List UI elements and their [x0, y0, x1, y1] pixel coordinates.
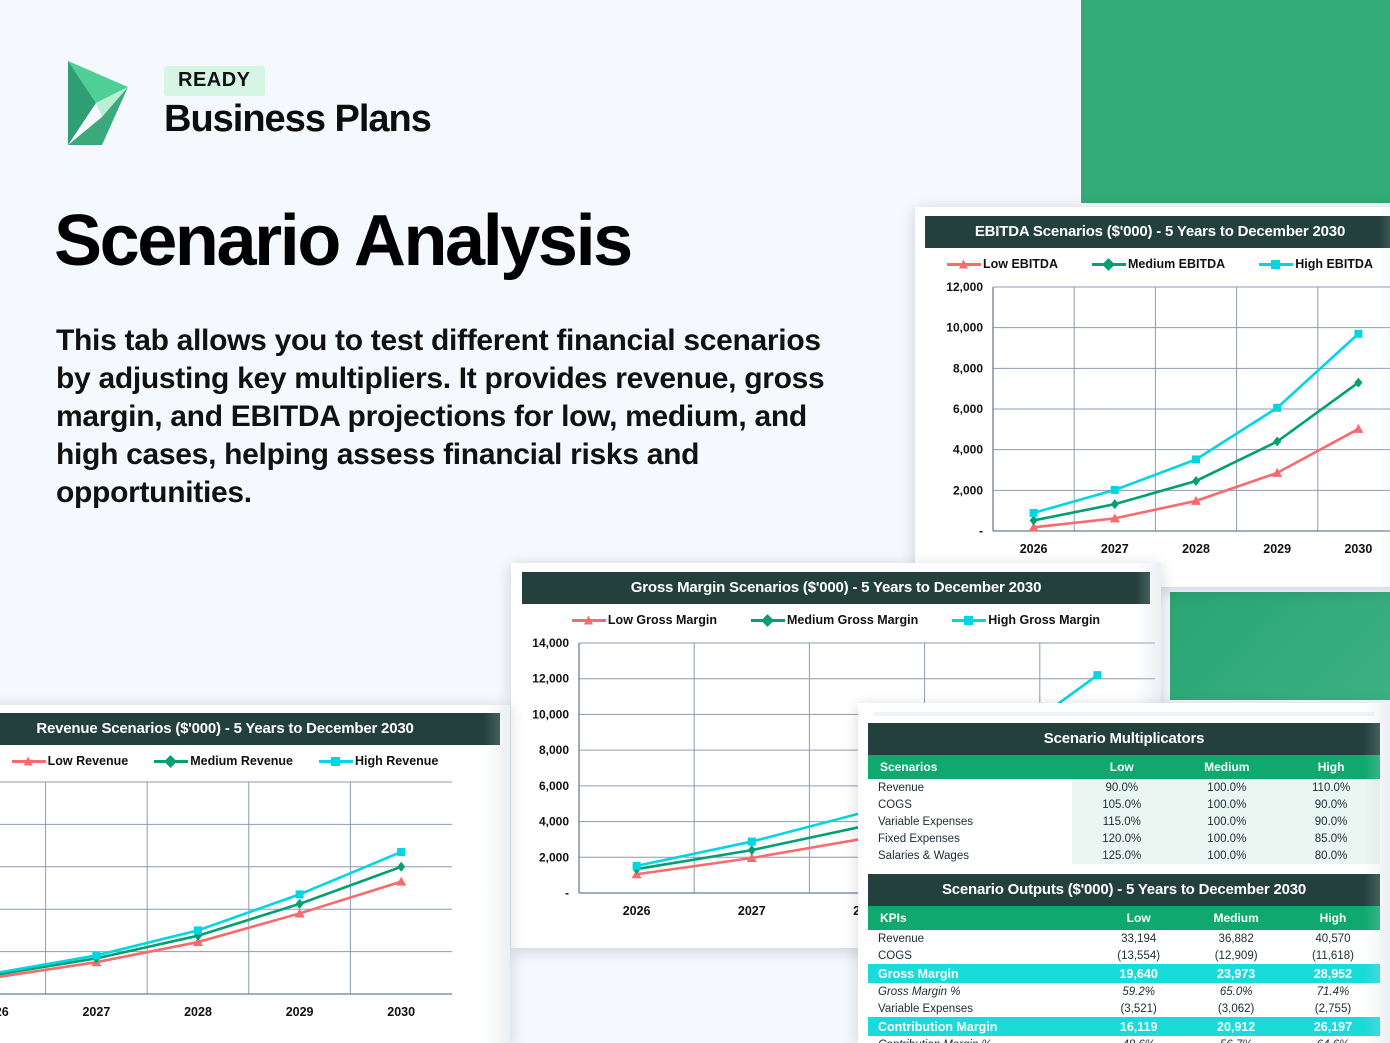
table-row: Revenue90.0%100.0%110.0% — [868, 779, 1380, 796]
cell-label: Variable Expenses — [868, 813, 1072, 830]
cell-medium: 100.0% — [1171, 813, 1282, 830]
svg-text:2026: 2026 — [0, 1005, 9, 1019]
col-medium: Medium — [1186, 906, 1286, 930]
svg-text:-: - — [565, 886, 569, 900]
play-triangle-logo-icon — [56, 57, 142, 149]
brand-logo: READY Business Plans — [56, 57, 431, 149]
cell-label: Contribution Margin % — [868, 1036, 1091, 1043]
cell-high: 90.0% — [1282, 813, 1380, 830]
svg-text:4,000: 4,000 — [539, 815, 569, 829]
svg-text:6,000: 6,000 — [539, 779, 569, 793]
scenario-tables-card: Scenario Multiplicators Scenarios Low Me… — [858, 703, 1390, 1043]
legend-swatch-medium — [154, 760, 188, 763]
legend-label-medium: Medium Revenue — [190, 754, 293, 768]
cell-medium: (3,062) — [1186, 1000, 1286, 1017]
table-header-row: Scenarios Low Medium High — [868, 755, 1380, 779]
decorative-green-block-middle — [1170, 592, 1390, 700]
card-top-divider — [874, 712, 1374, 716]
svg-text:14,000: 14,000 — [532, 636, 569, 650]
legend-label-low: Low Revenue — [48, 754, 129, 768]
cell-low: 125.0% — [1072, 847, 1171, 864]
multiplicators-table: Scenarios Low Medium High Revenue90.0%10… — [868, 755, 1380, 864]
cell-medium: 100.0% — [1171, 830, 1282, 847]
decorative-green-block-top — [1081, 0, 1390, 203]
legend-item-high: High EBITDA — [1259, 257, 1373, 271]
svg-text:10,000: 10,000 — [532, 707, 569, 721]
legend-swatch-medium — [751, 619, 785, 622]
legend-swatch-high — [952, 619, 986, 622]
cell-medium: 100.0% — [1171, 779, 1282, 796]
svg-text:6,000: 6,000 — [953, 402, 983, 416]
col-low: Low — [1072, 755, 1171, 779]
legend-item-low: Low Gross Margin — [572, 613, 717, 627]
cell-low: 90.0% — [1072, 779, 1171, 796]
intro-paragraph: This tab allows you to test different fi… — [56, 322, 856, 512]
cell-high: (11,618) — [1286, 947, 1380, 964]
cell-low: 48.6% — [1091, 1036, 1186, 1043]
cell-label: Gross Margin — [868, 964, 1091, 983]
multiplicators-title: Scenario Multiplicators — [868, 723, 1380, 755]
brand-name: Business Plans — [164, 100, 431, 140]
svg-text:12,000: 12,000 — [532, 672, 569, 686]
svg-text:2027: 2027 — [82, 1005, 110, 1019]
table-row: Revenue33,19436,88240,570 — [868, 930, 1380, 947]
col-high: High — [1282, 755, 1380, 779]
legend-swatch-low — [947, 263, 981, 266]
col-high: High — [1286, 906, 1380, 930]
legend-label-low: Low Gross Margin — [608, 613, 717, 627]
table-spacer — [868, 864, 1380, 874]
legend-item-high: High Gross Margin — [952, 613, 1100, 627]
cell-medium: 20,912 — [1186, 1017, 1286, 1036]
legend-swatch-medium — [1092, 263, 1126, 266]
col-kpis: KPIs — [868, 906, 1091, 930]
legend-label-low: Low EBITDA — [983, 257, 1058, 271]
table-row: COGS105.0%100.0%90.0% — [868, 796, 1380, 813]
cell-high: 40,570 — [1286, 930, 1380, 947]
svg-text:2030: 2030 — [387, 1005, 415, 1019]
gross-margin-chart-title: Gross Margin Scenarios ($'000) - 5 Years… — [522, 572, 1150, 604]
cell-medium: 100.0% — [1171, 847, 1282, 864]
svg-text:-: - — [979, 524, 983, 538]
cell-medium: (12,909) — [1186, 947, 1286, 964]
cell-high: 110.0% — [1282, 779, 1380, 796]
svg-text:10,000: 10,000 — [946, 321, 983, 335]
cell-label: COGS — [868, 796, 1072, 813]
revenue-plot-area: 20262027202820292030 — [0, 772, 510, 1040]
cell-low: (13,554) — [1091, 947, 1186, 964]
revenue-chart-card: Revenue Scenarios ($'000) - 5 Years to D… — [0, 705, 510, 1043]
legend-swatch-high — [1259, 263, 1293, 266]
cell-label: COGS — [868, 947, 1091, 964]
cell-low: 120.0% — [1072, 830, 1171, 847]
legend-swatch-high — [319, 760, 353, 763]
legend-swatch-low — [12, 760, 46, 763]
cell-low: (3,521) — [1091, 1000, 1186, 1017]
cell-high: 64.6% — [1286, 1036, 1380, 1043]
outputs-title: Scenario Outputs ($'000) - 5 Years to De… — [868, 874, 1380, 906]
cell-medium: 36,882 — [1186, 930, 1286, 947]
cell-high: 71.4% — [1286, 983, 1380, 1000]
cell-label: Revenue — [868, 930, 1091, 947]
table-row: Gross Margin %59.2%65.0%71.4% — [868, 983, 1380, 1000]
svg-text:2026: 2026 — [623, 904, 651, 918]
legend-item-low: Low Revenue — [12, 754, 129, 768]
cell-label: Salaries & Wages — [868, 847, 1072, 864]
cell-high: (2,755) — [1286, 1000, 1380, 1017]
cell-low: 33,194 — [1091, 930, 1186, 947]
svg-text:8,000: 8,000 — [953, 361, 983, 375]
svg-text:4,000: 4,000 — [953, 443, 983, 457]
cell-low: 105.0% — [1072, 796, 1171, 813]
cell-high: 80.0% — [1282, 847, 1380, 864]
page-title: Scenario Analysis — [54, 205, 631, 277]
table-row: Variable Expenses115.0%100.0%90.0% — [868, 813, 1380, 830]
cell-label: Variable Expenses — [868, 1000, 1091, 1017]
cell-high: 85.0% — [1282, 830, 1380, 847]
col-scenarios: Scenarios — [868, 755, 1072, 779]
col-medium: Medium — [1171, 755, 1282, 779]
legend-label-medium: Medium EBITDA — [1128, 257, 1225, 271]
revenue-chart-title: Revenue Scenarios ($'000) - 5 Years to D… — [0, 713, 500, 745]
legend-item-medium: Medium Revenue — [154, 754, 293, 768]
legend-label-high: High Gross Margin — [988, 613, 1100, 627]
cell-label: Revenue — [868, 779, 1072, 796]
cell-high: 28,952 — [1286, 964, 1380, 983]
cell-low: 16,119 — [1091, 1017, 1186, 1036]
legend-label-medium: Medium Gross Margin — [787, 613, 918, 627]
table-row: COGS(13,554)(12,909)(11,618) — [868, 947, 1380, 964]
svg-text:2029: 2029 — [1263, 542, 1291, 556]
cell-label: Fixed Expenses — [868, 830, 1072, 847]
legend-item-medium: Medium EBITDA — [1092, 257, 1225, 271]
gross-margin-chart-legend: Low Gross Margin Medium Gross Margin Hig… — [511, 604, 1161, 631]
legend-item-medium: Medium Gross Margin — [751, 613, 918, 627]
ebitda-chart-legend: Low EBITDA Medium EBITDA High EBITDA — [915, 248, 1390, 275]
table-row: Gross Margin19,64023,97328,952 — [868, 964, 1380, 983]
cell-medium: 100.0% — [1171, 796, 1282, 813]
legend-item-high: High Revenue — [319, 754, 438, 768]
svg-text:2027: 2027 — [738, 904, 766, 918]
table-header-row: KPIs Low Medium High — [868, 906, 1380, 930]
cell-medium: 65.0% — [1186, 983, 1286, 1000]
col-low: Low — [1091, 906, 1186, 930]
cell-medium: 56.7% — [1186, 1036, 1286, 1043]
cell-label: Gross Margin % — [868, 983, 1091, 1000]
legend-swatch-low — [572, 619, 606, 622]
cell-medium: 23,973 — [1186, 964, 1286, 983]
svg-text:2030: 2030 — [1344, 542, 1372, 556]
cell-low: 19,640 — [1091, 964, 1186, 983]
table-row: Fixed Expenses120.0%100.0%85.0% — [868, 830, 1380, 847]
ready-badge: READY — [164, 66, 265, 96]
svg-text:2026: 2026 — [1020, 542, 1048, 556]
svg-text:2,000: 2,000 — [953, 483, 983, 497]
svg-text:2028: 2028 — [1182, 542, 1210, 556]
table-row: Salaries & Wages125.0%100.0%80.0% — [868, 847, 1380, 864]
revenue-chart-legend: Low Revenue Medium Revenue High Revenue — [0, 745, 510, 772]
svg-text:12,000: 12,000 — [946, 280, 983, 294]
cell-high: 90.0% — [1282, 796, 1380, 813]
legend-item-low: Low EBITDA — [947, 257, 1058, 271]
ebitda-plot-area: -2,0004,0006,0008,00010,00012,0002026202… — [915, 275, 1390, 575]
svg-text:2027: 2027 — [1101, 542, 1129, 556]
table-row: Contribution Margin %48.6%56.7%64.6% — [868, 1036, 1380, 1043]
ebitda-chart-title: EBITDA Scenarios ($'000) - 5 Years to De… — [925, 216, 1390, 248]
svg-text:8,000: 8,000 — [539, 743, 569, 757]
cell-high: 26,197 — [1286, 1017, 1380, 1036]
table-row: Variable Expenses(3,521)(3,062)(2,755) — [868, 1000, 1380, 1017]
cell-label: Contribution Margin — [868, 1017, 1091, 1036]
table-row: Contribution Margin16,11920,91226,197 — [868, 1017, 1380, 1036]
ebitda-chart-card: EBITDA Scenarios ($'000) - 5 Years to De… — [915, 207, 1390, 587]
cell-low: 59.2% — [1091, 983, 1186, 1000]
svg-text:2,000: 2,000 — [539, 850, 569, 864]
svg-text:2028: 2028 — [184, 1005, 212, 1019]
legend-label-high: High EBITDA — [1295, 257, 1373, 271]
svg-text:2029: 2029 — [286, 1005, 314, 1019]
outputs-table: KPIs Low Medium High Revenue33,19436,882… — [868, 906, 1380, 1043]
cell-low: 115.0% — [1072, 813, 1171, 830]
legend-label-high: High Revenue — [355, 754, 438, 768]
